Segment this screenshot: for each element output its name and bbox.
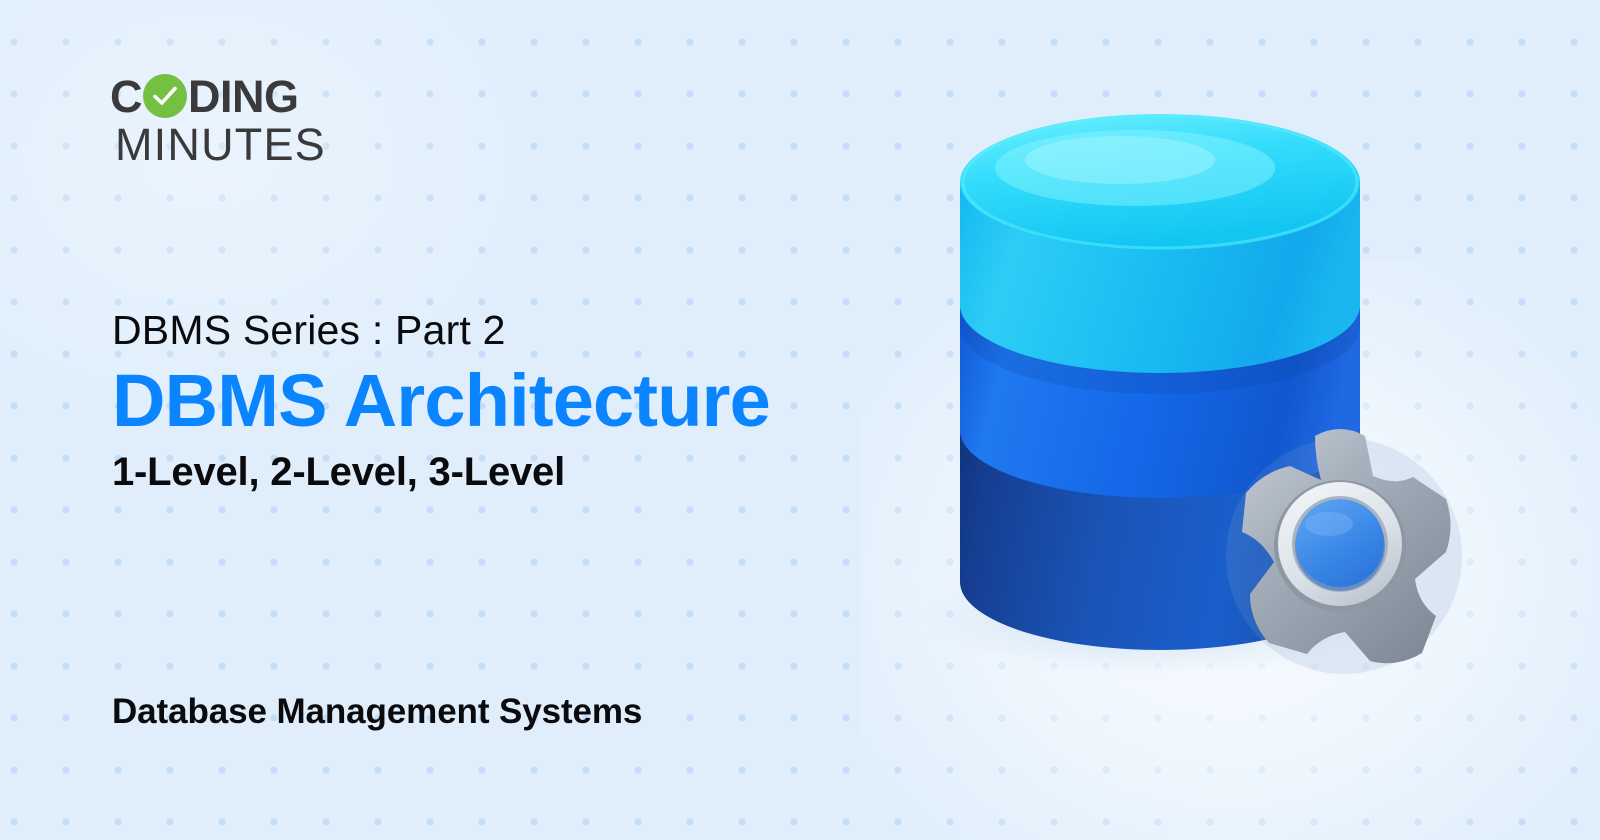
check-icon bbox=[143, 74, 187, 118]
logo-wordmark-minutes: MINUTES bbox=[110, 122, 410, 168]
page-subtitle: 1-Level, 2-Level, 3-Level bbox=[112, 450, 942, 495]
database-stack-icon bbox=[930, 130, 1490, 700]
page-title: DBMS Architecture bbox=[112, 362, 942, 440]
database-disc-top bbox=[960, 114, 1360, 373]
logo-wordmark-coding: C DING bbox=[110, 72, 410, 120]
banner-root: C DING MINUTES DBMS Series : Part 2 DBMS… bbox=[0, 0, 1600, 840]
series-kicker: DBMS Series : Part 2 bbox=[112, 308, 942, 354]
logo-letters-ding: DING bbox=[188, 74, 299, 119]
brand-logo[interactable]: C DING MINUTES bbox=[110, 72, 410, 168]
footer-caption: Database Management Systems bbox=[112, 692, 642, 732]
database-illustration-svg bbox=[930, 130, 1490, 700]
headline-group: DBMS Series : Part 2 DBMS Architecture 1… bbox=[112, 308, 942, 495]
logo-letter-c: C bbox=[110, 74, 142, 119]
check-mark-glyph bbox=[153, 85, 177, 107]
